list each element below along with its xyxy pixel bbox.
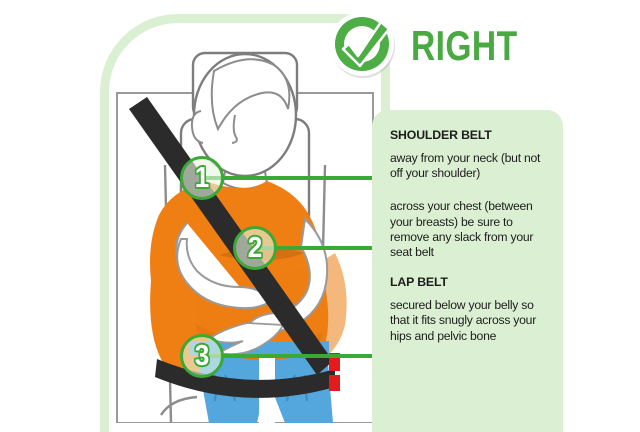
marker-number-1: 1 [195,164,210,193]
callout-panel: SHOULDER BELT away from your neck (but n… [372,110,563,432]
lap-belt-heading: LAP BELT [390,275,549,290]
shoulder-belt-marker: 1 [180,156,224,200]
connector-line-3 [200,354,396,358]
connector-line-1 [200,176,396,180]
spacer-2 [390,260,549,275]
marker-number-3: 3 [195,342,210,371]
shoulder-belt-heading: SHOULDER BELT [390,128,549,143]
chest-belt-marker: 2 [233,226,277,270]
page-title: RIGHT [411,24,518,68]
chest-belt-text: across your chest (between your breasts)… [390,199,549,260]
green-check-circle-icon [327,9,401,83]
lap-belt-marker: 3 [180,334,224,378]
spacer-1 [390,181,549,199]
marker-number-2: 2 [248,234,263,263]
shoulder-belt-text: away from your neck (but not off your sh… [390,151,549,181]
lap-belt-text: secured below your belly so that it fits… [390,298,549,344]
infographic-root: SHOULDER BELT away from your neck (but n… [0,0,640,432]
